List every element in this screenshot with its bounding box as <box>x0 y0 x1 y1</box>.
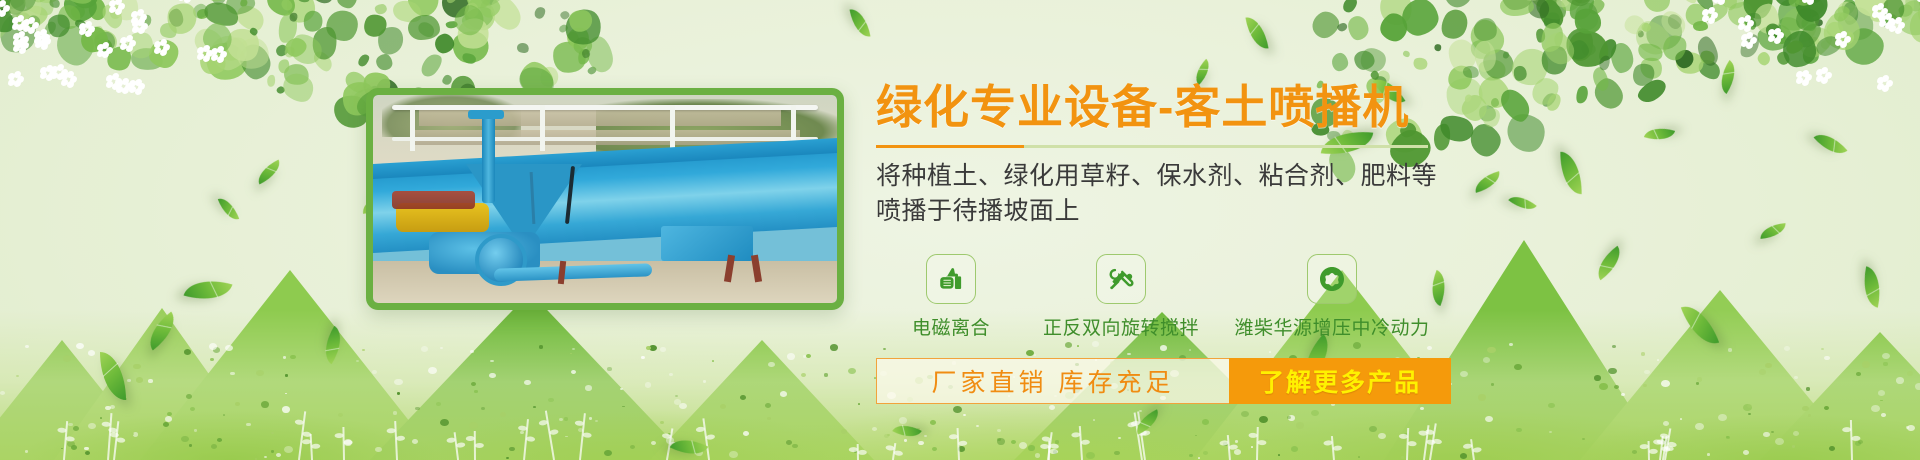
title-divider-accent <box>876 145 1024 148</box>
foliage-blob <box>1377 0 1415 28</box>
grass-speck <box>660 421 665 425</box>
foliage-blob <box>42 19 59 37</box>
blossom-icon <box>0 0 10 17</box>
foliage-blob <box>236 0 285 7</box>
foliage-blob <box>57 0 99 10</box>
grass-speck <box>1378 433 1386 439</box>
foliage-blob <box>261 0 299 21</box>
grass-speck <box>872 427 877 431</box>
foliage-blob <box>1538 42 1572 77</box>
foliage-blob <box>249 26 259 36</box>
grass-sprig <box>343 427 346 460</box>
grass-sprig <box>1256 427 1259 460</box>
foliage-blob <box>478 0 507 9</box>
grass-speck <box>787 353 796 360</box>
foliage-blob <box>459 33 468 42</box>
feature-item-clutch[interactable]: 电磁离合 <box>876 254 1026 340</box>
grass-speck <box>932 447 938 452</box>
foliage-blob <box>359 10 389 41</box>
photo-riser-pipe <box>482 112 495 204</box>
foliage-blob <box>404 0 444 20</box>
blossom-icon <box>176 0 194 3</box>
grass-speck <box>283 356 287 359</box>
grass-speck <box>620 388 623 390</box>
foliage-blob <box>99 1 125 31</box>
grass-speck <box>1878 390 1885 396</box>
cta-bar: 厂家直销 库存充足 了解更多产品 <box>876 358 1451 404</box>
grass-speck <box>223 414 225 416</box>
grass-speck <box>675 395 678 397</box>
grass-speck <box>489 373 495 378</box>
leaf-icon <box>1132 409 1164 434</box>
grass-speck <box>88 350 95 356</box>
grass-sprig <box>1659 436 1664 460</box>
leaf-icon <box>184 272 233 307</box>
foliage-blob <box>1524 0 1554 22</box>
grass-speck <box>186 394 193 399</box>
grass-speck <box>1189 454 1193 457</box>
grass-speck <box>415 407 419 410</box>
grass-speck <box>421 346 428 352</box>
foliage-blob <box>1638 55 1665 81</box>
grass-sprig <box>956 428 959 460</box>
foliage-blob <box>198 48 228 76</box>
grass-speck <box>1582 438 1585 441</box>
mountain-right-4 <box>1580 290 1860 460</box>
foliage-blob <box>1482 48 1515 80</box>
leaf-icon <box>316 326 349 364</box>
blossom-icon <box>11 30 29 48</box>
grass-speck <box>436 402 441 406</box>
grass-speck <box>1369 426 1377 432</box>
grass-speck <box>768 362 775 368</box>
grass-speck <box>1806 387 1810 390</box>
foliage-blob <box>278 67 319 108</box>
blossom-icon <box>152 38 170 56</box>
blossom-icon <box>1814 66 1832 84</box>
grass-speck <box>548 398 554 403</box>
grass-speck <box>284 446 293 453</box>
foliage-blob <box>69 0 99 10</box>
grass-speck <box>1241 411 1249 418</box>
foliage-blob <box>275 85 285 95</box>
grass-speck <box>1747 404 1752 408</box>
blossom-icon <box>118 34 136 52</box>
blossom-icon <box>107 0 125 15</box>
feature-label-clutch: 电磁离合 <box>876 313 1026 340</box>
grass-speck <box>25 450 28 453</box>
grass-speck <box>646 346 651 350</box>
foliage-blob <box>1658 31 1691 65</box>
grass-sprig <box>1662 437 1668 460</box>
foliage-blob <box>1838 21 1890 73</box>
grass-sprig <box>857 444 859 460</box>
foliage-blob <box>99 0 134 2</box>
grass-speck <box>184 349 192 355</box>
grass-speck <box>780 391 788 397</box>
foliage-blob <box>1773 13 1804 44</box>
grass-speck <box>397 392 400 395</box>
foliage-blob <box>283 45 297 59</box>
grass-speck <box>1697 377 1702 381</box>
grass-speck <box>801 373 806 377</box>
foliage-blob <box>460 3 497 33</box>
grass-speck <box>190 407 195 411</box>
foliage-blob <box>1639 8 1689 57</box>
grass-speck <box>393 411 398 415</box>
foliage-blob <box>1877 0 1920 28</box>
foliage-blob <box>197 9 209 19</box>
foliage-blob <box>462 0 494 12</box>
foliage-blob <box>1575 2 1599 30</box>
foliage-blob <box>1572 6 1604 36</box>
foliage-blob <box>190 23 229 62</box>
grass-speck <box>1485 416 1493 422</box>
foliage-blob <box>445 0 459 5</box>
grass-speck <box>841 429 847 434</box>
leaf-icon <box>850 7 871 39</box>
leaf-icon <box>1858 266 1885 307</box>
foliage-blob <box>532 5 547 20</box>
grass-speck <box>481 407 485 410</box>
foliage-blob <box>0 1 18 37</box>
grass-speck <box>1164 404 1169 408</box>
foliage-blob <box>0 0 4 16</box>
grass-speck <box>806 354 811 358</box>
leaf-icon <box>1644 123 1675 146</box>
grass-speck <box>67 441 75 447</box>
grass-speck <box>1661 380 1670 387</box>
grass-speck <box>25 345 29 348</box>
foliage-blob <box>1774 0 1815 35</box>
grass-speck <box>1404 433 1409 437</box>
foliage-blob <box>1831 3 1852 24</box>
foliage-blob <box>459 0 502 36</box>
foliage-blob <box>1376 8 1414 46</box>
foliage-blob <box>192 2 211 20</box>
foliage-blob <box>15 17 29 30</box>
foliage-blob <box>1536 0 1567 33</box>
foliage-blob <box>91 25 122 55</box>
grass-speck <box>1808 414 1811 417</box>
grass-speck <box>285 393 287 395</box>
foliage-blob <box>1764 22 1782 40</box>
grass-speck <box>649 345 657 351</box>
blossom-icon <box>129 8 147 26</box>
foliage-blob <box>1638 30 1645 38</box>
grass-speck <box>1055 440 1059 443</box>
grass-speck <box>285 374 288 376</box>
grass-speck <box>1516 428 1522 432</box>
foliage-blob <box>1807 35 1820 45</box>
foliage-blob <box>1772 28 1789 46</box>
grass-speck <box>1824 356 1829 360</box>
grass-speck <box>1718 414 1727 421</box>
foliage-blob <box>309 24 339 61</box>
foliage-blob <box>1536 28 1545 42</box>
blossom-icon <box>32 28 50 46</box>
photo-control-box <box>661 226 754 261</box>
grass-speck <box>858 403 860 405</box>
foliage-blob <box>1681 0 1711 29</box>
foliage-blob <box>0 3 8 14</box>
grass-sprig <box>394 421 398 460</box>
foliage-blob <box>1898 5 1913 18</box>
foliage-blob <box>46 12 71 38</box>
foliage-blob <box>1590 74 1627 113</box>
blossom-icon <box>130 17 148 35</box>
grass-speck <box>290 355 295 359</box>
blossom-icon <box>195 44 213 62</box>
grass-speck <box>1048 446 1052 449</box>
grass-speck <box>712 360 715 362</box>
promo-banner: 绿化专业设备-客土喷播机 将种植土、绿化用草籽、保水剂、粘合剂、肥料等 喷播于待… <box>0 0 1920 460</box>
foliage-blob <box>1741 13 1758 32</box>
foliage-blob <box>1904 5 1920 47</box>
grass-sprig <box>1048 441 1050 460</box>
grass-speck <box>1743 404 1752 411</box>
grass-speck <box>63 355 71 362</box>
grass-speck <box>71 445 77 450</box>
foliage-blob <box>204 41 249 82</box>
foliage-blob <box>1799 17 1817 34</box>
grass-speck <box>997 438 1005 445</box>
foliage-blob <box>217 34 252 64</box>
foliage-blob <box>1510 0 1553 5</box>
grass-speck <box>1726 436 1730 439</box>
leaf-icon <box>1814 126 1848 161</box>
grass-speck <box>1680 418 1682 420</box>
grass-speck <box>506 457 508 459</box>
foliage-blob <box>1776 51 1790 66</box>
foliage-blob <box>1574 85 1590 105</box>
foliage-blob <box>334 0 360 12</box>
grass-speck <box>1856 372 1861 376</box>
grass-sprig <box>892 444 896 460</box>
grass-speck <box>1118 437 1121 440</box>
grass-speck <box>1259 416 1268 423</box>
foliage-blob <box>1771 0 1801 10</box>
foliage-blob <box>1501 50 1510 60</box>
grass-speck <box>115 381 121 386</box>
feature-item-engine[interactable]: 潍柴华源增压中冷动力 <box>1216 254 1448 340</box>
foliage-blob <box>1610 42 1634 74</box>
foliage-blob <box>0 0 1 10</box>
grass-speck <box>641 356 644 359</box>
foliage-blob <box>1880 12 1900 30</box>
grass-speck <box>225 345 233 352</box>
blossom-icon <box>95 41 113 59</box>
grass-speck <box>930 420 936 425</box>
foliage-blob <box>1533 0 1570 24</box>
grass-speck <box>1759 369 1766 375</box>
grass-speck <box>729 451 737 458</box>
photo-railing-post-2 <box>540 105 545 151</box>
grass-sprig <box>1406 428 1409 460</box>
foliage-blob <box>1353 49 1376 70</box>
grass-speck <box>1907 371 1913 376</box>
foliage-blob <box>296 0 311 4</box>
grass-speck <box>1644 370 1650 375</box>
leaf-icon <box>100 352 126 400</box>
grass-sprig <box>523 419 529 460</box>
grass-speck <box>276 453 281 457</box>
foliage-blob <box>1694 0 1716 12</box>
foliage-blob <box>0 10 7 17</box>
foliage-blob <box>141 13 153 27</box>
foliage-blob <box>1665 11 1684 31</box>
grass-speck <box>1763 432 1770 437</box>
leaf-icon <box>1245 15 1268 51</box>
blossom-icon <box>1877 12 1895 30</box>
grass-speck <box>570 353 572 355</box>
grass-speck <box>1726 436 1729 439</box>
leaf-icon <box>141 312 183 351</box>
foliage-blob <box>275 12 299 45</box>
foliage-blob <box>1782 30 1817 68</box>
grass-speck <box>595 420 597 422</box>
grass-speck <box>997 438 1000 441</box>
grass-speck <box>1086 452 1095 459</box>
grass-sprig <box>1227 435 1231 460</box>
foliage-blob <box>1881 0 1907 22</box>
leaf-icon <box>253 160 284 185</box>
feature-item-mixing[interactable]: 正反双向旋转搅拌 <box>1026 254 1216 340</box>
foliage-blob <box>287 0 315 22</box>
foliage-blob <box>446 21 458 29</box>
grass-speck <box>917 428 920 430</box>
grass-speck <box>68 423 72 426</box>
foliage-blob <box>454 14 492 52</box>
grass-speck <box>1549 431 1552 433</box>
grass-speck <box>559 418 563 421</box>
grass-speck <box>127 379 130 382</box>
foliage-blob <box>1566 38 1590 62</box>
foliage-blob <box>418 50 447 80</box>
foliage-blob <box>1399 0 1443 38</box>
grass-speck <box>1235 440 1238 443</box>
grass-speck <box>824 373 828 376</box>
grass-speck <box>1291 446 1298 452</box>
foliage-blob <box>280 0 294 12</box>
foliage-blob <box>1586 0 1608 17</box>
mountain-left-2 <box>54 308 270 460</box>
grass-speck <box>271 432 274 434</box>
foliage-blob <box>278 59 291 74</box>
grass-speck <box>133 432 139 436</box>
grass-speck <box>976 425 979 427</box>
foliage-blob <box>1636 41 1665 65</box>
foliage-blob <box>285 29 327 71</box>
foliage-blob <box>1336 22 1348 32</box>
foliage-blob <box>210 0 226 6</box>
foliage-blob <box>222 23 265 65</box>
grass-speck <box>1657 359 1659 361</box>
leaf-icon <box>1760 223 1787 239</box>
foliage-blob <box>1680 0 1700 6</box>
foliage-blob <box>19 0 57 20</box>
foliage-blob <box>71 6 86 20</box>
grass-speck <box>1881 413 1886 417</box>
learn-more-button[interactable]: 了解更多产品 <box>1229 358 1451 404</box>
grass-sprig <box>298 412 306 460</box>
grass-sprig <box>1331 436 1335 460</box>
grass-speck <box>651 441 656 445</box>
grass-speck <box>767 417 771 420</box>
foliage-blob <box>1758 25 1792 51</box>
grass-speck <box>622 406 624 408</box>
foliage-blob <box>0 1 9 42</box>
blossom-icon <box>1794 68 1812 86</box>
foliage-blob <box>1737 0 1778 24</box>
grass-sprig <box>474 431 476 460</box>
foliage-blob <box>1402 49 1411 58</box>
feature-label-engine: 潍柴华源增压中冷动力 <box>1216 313 1448 340</box>
mountain-left-5 <box>650 340 874 460</box>
grass-speck <box>136 377 144 383</box>
foliage-blob <box>48 0 62 10</box>
foliage-blob <box>1742 0 1775 16</box>
grass-speck <box>1862 361 1871 368</box>
grass-speck <box>695 449 703 456</box>
foliage-blob <box>581 48 590 58</box>
foliage-blob <box>1695 35 1721 69</box>
foliage-blob <box>1570 0 1591 5</box>
foliage-blob <box>568 9 593 33</box>
foliage-blob <box>1849 0 1893 23</box>
foliage-blob <box>80 25 110 53</box>
foliage-blob <box>1341 0 1360 15</box>
grass-speck <box>261 401 269 407</box>
foliage-blob <box>14 8 33 27</box>
grass-speck <box>918 441 924 446</box>
grass-speck <box>165 416 172 422</box>
grass-speck <box>1695 423 1703 430</box>
grass-speck <box>189 444 192 447</box>
foliage-blob <box>1437 5 1473 43</box>
grass-speck <box>830 344 838 350</box>
foliage-blob <box>1500 0 1534 16</box>
grass-speck <box>1251 446 1254 448</box>
foliage-blob <box>89 0 106 20</box>
product-image-frame[interactable] <box>366 88 844 310</box>
blossom-icon <box>38 64 56 82</box>
foliage-blob <box>158 20 180 41</box>
grass-speck <box>1599 383 1607 390</box>
grass-speck <box>786 440 792 445</box>
grass-speck <box>1662 439 1668 444</box>
grass-speck <box>792 444 797 448</box>
foliage-blob <box>94 37 115 58</box>
grass-speck <box>1093 419 1096 421</box>
grass-speck <box>585 385 592 390</box>
grass-speck <box>271 450 274 453</box>
grass-speck <box>105 406 111 410</box>
foliage-blob <box>93 31 115 53</box>
foliage-blob <box>1695 55 1724 83</box>
foliage-blob <box>112 0 141 22</box>
grass-sprig <box>113 421 119 460</box>
foliage-blob <box>1794 0 1827 22</box>
grass-speck <box>1287 416 1291 419</box>
foliage-blob <box>1527 0 1564 9</box>
foliage-blob <box>235 36 270 70</box>
foliage-blob <box>560 10 571 21</box>
blossom-icon <box>59 70 77 88</box>
grass-speck <box>1019 442 1027 448</box>
grass-speck <box>344 439 352 446</box>
leaf-icon <box>1713 60 1743 94</box>
